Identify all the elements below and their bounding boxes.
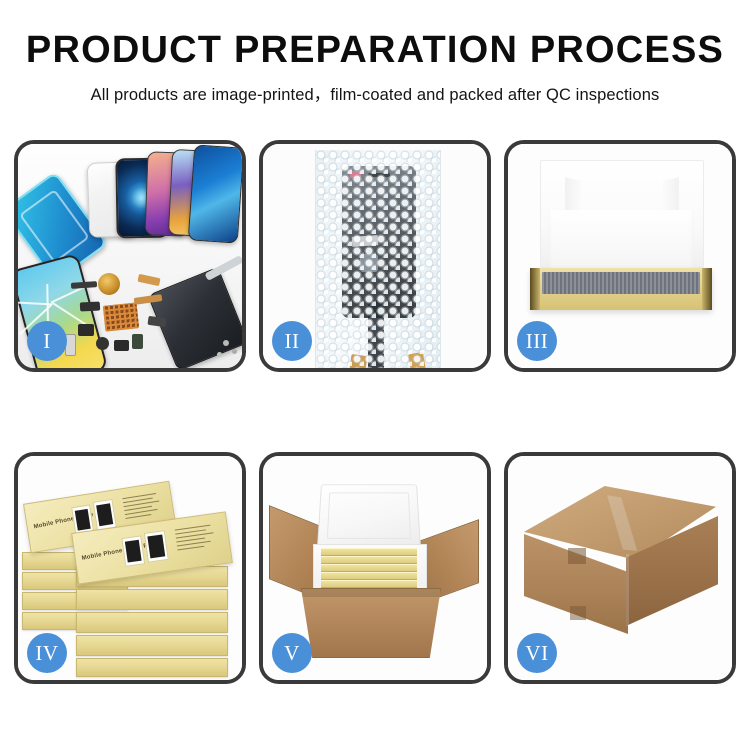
bubble-wrap-bag [315, 150, 441, 368]
step-badge-2: II [272, 321, 312, 361]
stacked-box-front-3 [76, 612, 228, 633]
bubble-texture [316, 150, 440, 368]
carton-seam-lower [570, 606, 586, 620]
packed-yellow-boxes [321, 548, 417, 590]
gray-foam-insert [542, 272, 700, 294]
header: PRODUCT PREPARATION PROCESS All products… [0, 30, 750, 105]
speaker-coil-part [98, 273, 120, 295]
carton-body [301, 588, 441, 658]
white-foam-sheet [548, 210, 694, 274]
tray-edge-right [702, 268, 712, 310]
stacked-box-front-5 [76, 658, 228, 677]
process-step-panel-3: III [504, 140, 736, 372]
screw-1 [223, 340, 229, 346]
step-badge-3: III [517, 321, 557, 361]
product-preparation-infographic: PRODUCT PREPARATION PROCESS All products… [0, 0, 750, 750]
small-part-2 [96, 337, 109, 350]
process-step-panel-6: VI [504, 452, 736, 684]
process-step-grid: I II [14, 140, 736, 685]
small-part-1 [78, 324, 94, 336]
kraft-tray [530, 268, 712, 310]
step-badge-1: I [27, 321, 67, 361]
step-badge-5: V [272, 633, 312, 673]
page-subtitle: All products are image-printed，film-coat… [0, 81, 750, 105]
box-lid-screen-image-4 [144, 530, 169, 563]
process-step-panel-5: V [259, 452, 491, 684]
box-lid-spec-lines-second [175, 524, 218, 553]
carton-vertical-edge [626, 554, 629, 626]
small-part-5 [80, 301, 100, 311]
small-part-4 [132, 334, 143, 349]
box-lid-screen-image-2 [93, 499, 117, 531]
screw-3 [217, 352, 222, 357]
tray-edge-left [530, 268, 540, 310]
carton-seam-upper [568, 548, 586, 564]
box-lid-spec-lines-top [122, 492, 163, 522]
screw-2 [232, 349, 237, 354]
step-badge-4: IV [27, 633, 67, 673]
small-part-3 [114, 340, 129, 351]
box-lid-screen-image-3 [121, 535, 145, 567]
process-step-panel-1: I [14, 140, 246, 372]
foam-lid [317, 484, 421, 550]
stacked-box-front-2 [76, 589, 228, 610]
blue-wave-phone [188, 144, 242, 243]
stacked-box-front-4 [76, 635, 228, 656]
step-badge-6: VI [517, 633, 557, 673]
page-title: PRODUCT PREPARATION PROCESS [0, 30, 750, 71]
process-step-panel-4: Mobile Phone Spare Parts Mobile Phone Sp… [14, 452, 246, 684]
chip-grid-part [103, 302, 140, 331]
process-step-panel-2: II [259, 140, 491, 372]
